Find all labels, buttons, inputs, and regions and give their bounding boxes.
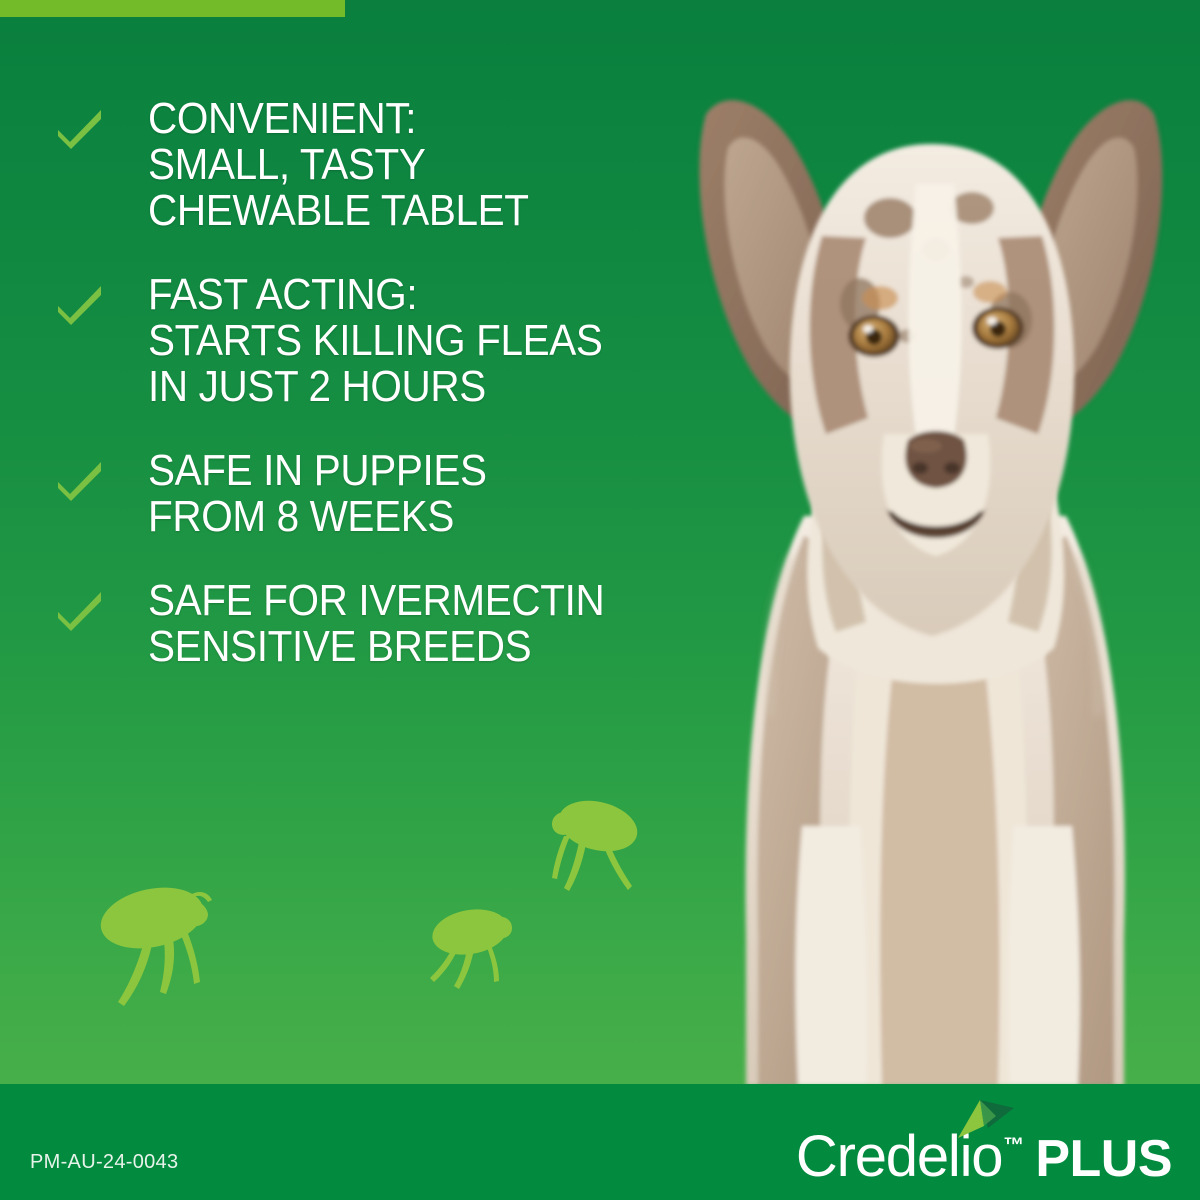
flea-large <box>96 872 222 1008</box>
promotional-code: PM-AU-24-0043 <box>30 1151 178 1174</box>
dog-photo <box>654 36 1200 1086</box>
flea-medium <box>540 792 644 902</box>
benefit-text-4: SAFE FOR IVERMECTIN SENSITIVE BREEDS <box>148 578 604 670</box>
check-icon <box>56 460 114 502</box>
credelio-plus-logo: Credelio ™ PLUS <box>796 1100 1172 1186</box>
flea-small <box>424 896 520 996</box>
benefit-item-3: SAFE IN PUPPIES FROM 8 WEEKS <box>0 448 700 540</box>
benefit-item-2: FAST ACTING: STARTS KILLING FLEAS IN JUS… <box>0 272 700 410</box>
top-accent-bar <box>0 0 345 17</box>
benefit-text-1: CONVENIENT: SMALL, TASTY CHEWABLE TABLET <box>148 96 529 234</box>
check-icon <box>56 284 114 326</box>
benefit-text-3: SAFE IN PUPPIES FROM 8 WEEKS <box>148 448 487 540</box>
benefits-list: CONVENIENT: SMALL, TASTY CHEWABLE TABLET… <box>0 96 700 670</box>
benefit-item-4: SAFE FOR IVERMECTIN SENSITIVE BREEDS <box>0 578 700 670</box>
check-icon <box>56 590 114 632</box>
logo-trademark: ™ <box>1003 1134 1024 1158</box>
benefit-text-2: FAST ACTING: STARTS KILLING FLEAS IN JUS… <box>148 272 603 410</box>
check-icon <box>56 108 114 150</box>
credelio-plus-advertisement: CONVENIENT: SMALL, TASTY CHEWABLE TABLET… <box>0 0 1200 1200</box>
benefit-item-1: CONVENIENT: SMALL, TASTY CHEWABLE TABLET <box>0 96 700 234</box>
logo-brand-suffix: PLUS <box>1035 1133 1172 1185</box>
